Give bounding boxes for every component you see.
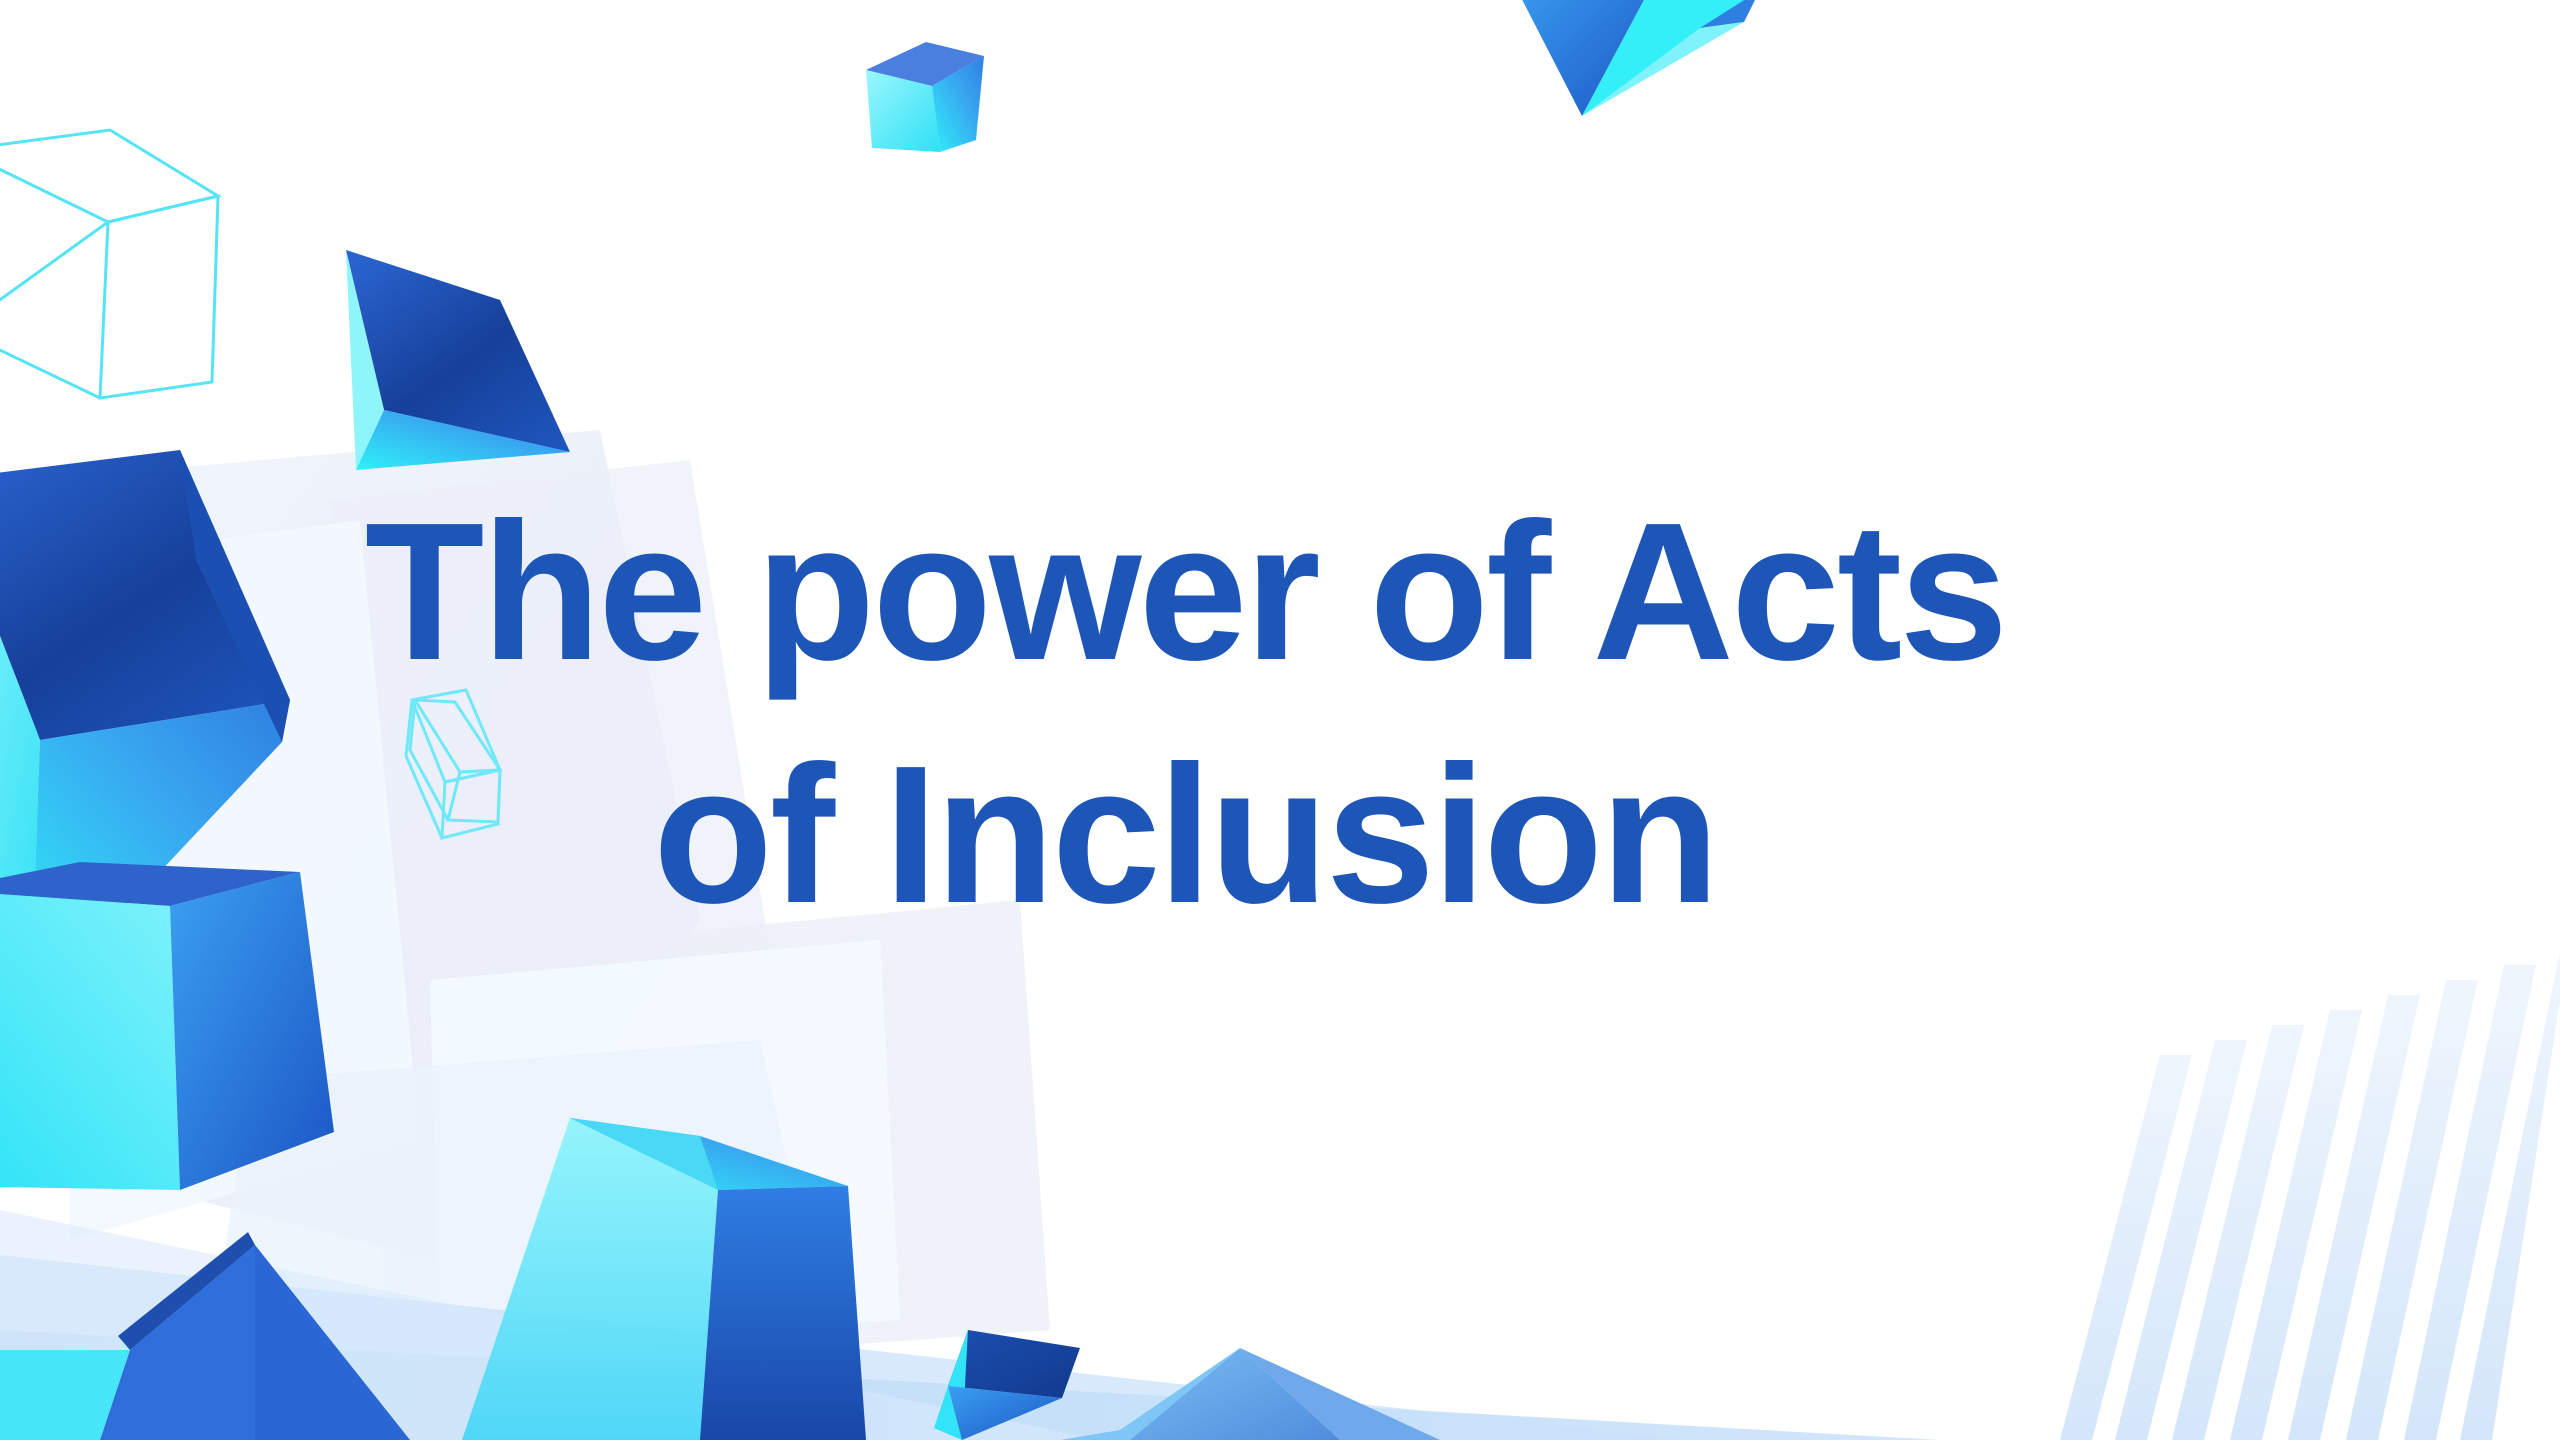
small-cube-bottom-center (934, 1330, 1080, 1440)
slide-title: The power of Acts of Inclusion (0, 470, 2370, 956)
pyramid-bottom-center (1060, 1348, 1440, 1440)
title-line-2: of Inclusion (0, 713, 2370, 956)
slide-canvas: The power of Acts of Inclusion (0, 0, 2560, 1440)
diagonal-stripes-bottom-right (2060, 952, 2560, 1440)
pyramid-bottom-left (0, 1232, 410, 1440)
pyramid-upper-left (346, 250, 570, 470)
wireframe-cube-top-left (0, 130, 218, 398)
bottom-diagonal-band (0, 1210, 1940, 1440)
diamond-top-right (1512, 0, 1760, 116)
small-cube-top-center (866, 42, 984, 152)
tall-box-lower-center (462, 1118, 866, 1440)
title-line-1: The power of Acts (0, 470, 2370, 713)
